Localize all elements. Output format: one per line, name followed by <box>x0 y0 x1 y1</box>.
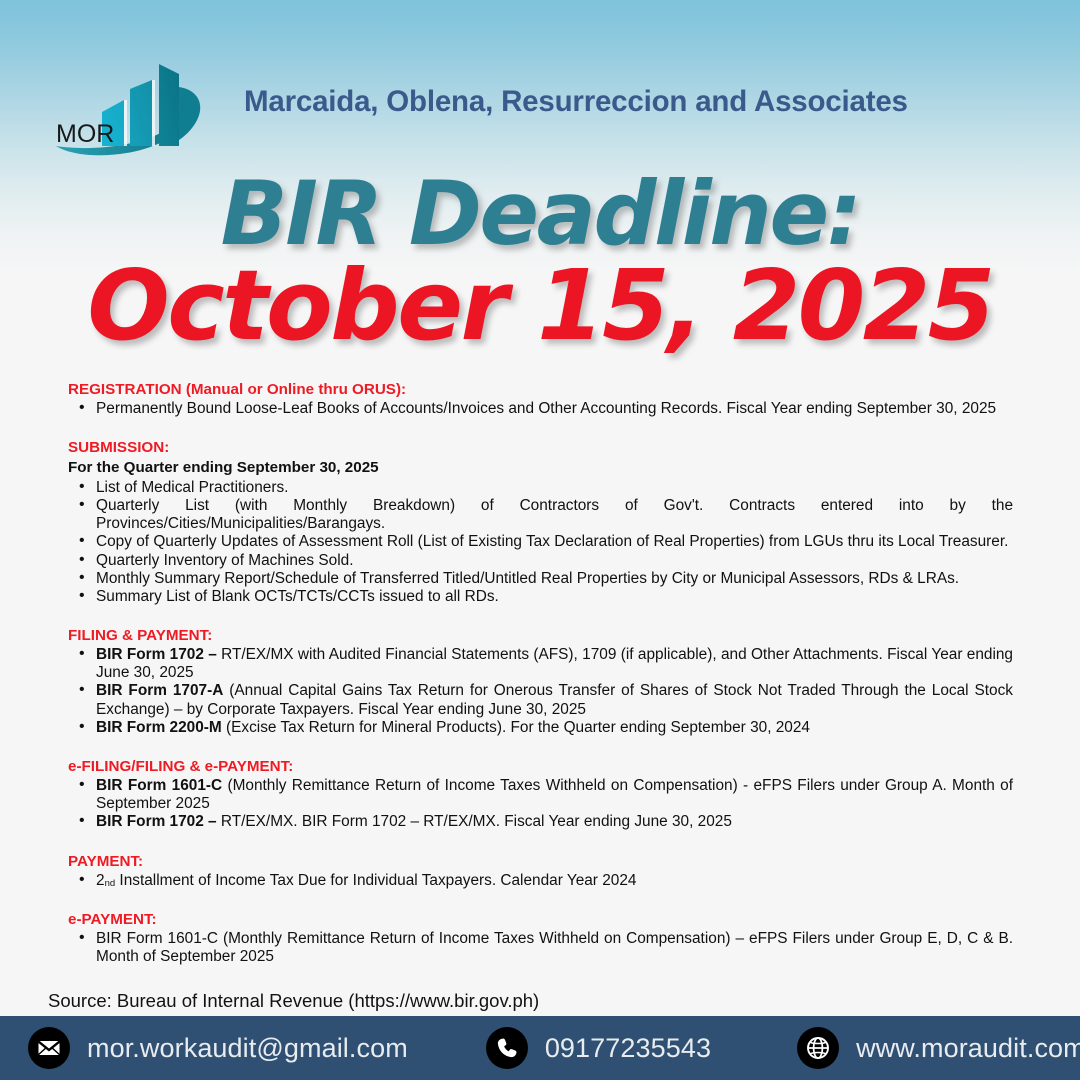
list-item: BIR Form 1601-C (Monthly Remittance Retu… <box>68 777 1013 813</box>
list-item-label: BIR Form 1702 – <box>96 813 217 830</box>
deadline-sections: REGISTRATION (Manual or Online thru ORUS… <box>68 380 1013 1012</box>
company-name: Marcaida, Oblena, Resurreccion and Assoc… <box>244 85 908 119</box>
list-item: Quarterly List (with Monthly Breakdown) … <box>68 497 1013 533</box>
list-item: Summary List of Blank OCTs/TCTs/CCTs iss… <box>68 588 1013 606</box>
contact-phone-text: 09177235543 <box>545 1033 711 1064</box>
section-heading: SUBMISSION: <box>68 438 1013 457</box>
section-gap <box>68 418 1013 438</box>
section-heading: PAYMENT: <box>68 852 1013 871</box>
logo-wordmark: MOR <box>56 120 114 148</box>
contact-email-text: mor.workaudit@gmail.com <box>87 1033 408 1064</box>
list-item-text: RT/EX/MX. BIR Form 1702 – RT/EX/MX. Fisc… <box>217 813 732 830</box>
section-heading: REGISTRATION (Manual or Online thru ORUS… <box>68 380 1013 399</box>
list-item-text: (Monthly Remittance Return of Income Tax… <box>96 777 1013 812</box>
list-item: List of Medical Practitioners. <box>68 479 1013 497</box>
contact-phone[interactable]: 09177235543 <box>486 1027 711 1069</box>
section-bullet-list: 2nd Installment of Income Tax Due for In… <box>68 872 1013 890</box>
list-item-label: BIR Form 1707-A <box>96 682 223 699</box>
contact-website-text: www.moraudit.com <box>856 1033 1080 1064</box>
list-item: Permanently Bound Loose-Leaf Books of Ac… <box>68 400 1013 418</box>
ordinal-number: 2 <box>96 872 105 889</box>
list-item: Copy of Quarterly Updates of Assessment … <box>68 533 1013 551</box>
section-gap <box>68 606 1013 626</box>
title-line-2: October 15, 2025 <box>0 260 1080 352</box>
contact-website[interactable]: www.moraudit.com <box>797 1027 1080 1069</box>
contact-email[interactable]: mor.workaudit@gmail.com <box>28 1027 408 1069</box>
logo-bar-3 <box>159 64 179 146</box>
list-item-text: BIR Form 1601-C (Monthly Remittance Retu… <box>96 930 1013 965</box>
section-subheading: For the Quarter ending September 30, 202… <box>68 458 1013 478</box>
list-item: BIR Form 1601-C (Monthly Remittance Retu… <box>68 930 1013 966</box>
section-bullet-list: BIR Form 1601-C (Monthly Remittance Retu… <box>68 930 1013 966</box>
list-item-text: Quarterly Inventory of Machines Sold. <box>96 552 354 569</box>
logo-bar-2 <box>130 80 152 146</box>
title-line-1: BIR Deadline: <box>0 172 1080 256</box>
building-growth-logo-icon: MOR <box>42 42 212 162</box>
ordinal-suffix: nd <box>105 878 116 889</box>
globe-icon <box>797 1027 839 1069</box>
list-item-text: List of Medical Practitioners. <box>96 479 288 496</box>
list-item: BIR Form 1702 – RT/EX/MX with Audited Fi… <box>68 646 1013 682</box>
section-bullet-list: BIR Form 1702 – RT/EX/MX with Audited Fi… <box>68 646 1013 737</box>
list-item-text: Installment of Income Tax Due for Indivi… <box>115 872 636 889</box>
section-heading: e-PAYMENT: <box>68 910 1013 929</box>
list-item-text: Quarterly List (with Monthly Breakdown) … <box>96 497 1013 532</box>
list-item-text: (Annual Capital Gains Tax Return for One… <box>96 682 1013 717</box>
list-item: BIR Form 1707-A (Annual Capital Gains Ta… <box>68 682 1013 718</box>
source-note: Source: Bureau of Internal Revenue (http… <box>48 990 1013 1012</box>
title-block: BIR Deadline: October 15, 2025 <box>0 172 1080 352</box>
section-bullet-list: List of Medical Practitioners.Quarterly … <box>68 479 1013 606</box>
list-item: BIR Form 2200-M (Excise Tax Return for M… <box>68 719 1013 737</box>
list-item: 2nd Installment of Income Tax Due for In… <box>68 872 1013 890</box>
poster-canvas: MOR Marcaida, Oblena, Resurreccion and A… <box>0 0 1080 1080</box>
footer-contact-bar: mor.workaudit@gmail.com 09177235543 <box>0 1016 1080 1080</box>
mor-logo: MOR <box>42 42 212 162</box>
logo-bar-3-curve <box>179 87 200 140</box>
list-item-label: BIR Form 2200-M <box>96 719 222 736</box>
list-item-text: Copy of Quarterly Updates of Assessment … <box>96 533 1008 550</box>
list-item-text: Monthly Summary Report/Schedule of Trans… <box>96 570 959 587</box>
list-item: BIR Form 1702 – RT/EX/MX. BIR Form 1702 … <box>68 813 1013 831</box>
section-gap <box>68 737 1013 757</box>
list-item-label: BIR Form 1601-C <box>96 777 222 794</box>
envelope-icon <box>28 1027 70 1069</box>
list-item-label: BIR Form 1702 – <box>96 646 217 663</box>
list-item-text: Summary List of Blank OCTs/TCTs/CCTs iss… <box>96 588 499 605</box>
section-heading: FILING & PAYMENT: <box>68 626 1013 645</box>
phone-icon <box>486 1027 528 1069</box>
section-gap <box>68 832 1013 852</box>
section-bullet-list: Permanently Bound Loose-Leaf Books of Ac… <box>68 400 1013 418</box>
list-item: Monthly Summary Report/Schedule of Trans… <box>68 570 1013 588</box>
header: MOR Marcaida, Oblena, Resurreccion and A… <box>0 42 1080 162</box>
list-item: Quarterly Inventory of Machines Sold. <box>68 552 1013 570</box>
section-heading: e-FILING/FILING & e-PAYMENT: <box>68 757 1013 776</box>
list-item-text: Permanently Bound Loose-Leaf Books of Ac… <box>96 400 996 417</box>
section-bullet-list: BIR Form 1601-C (Monthly Remittance Retu… <box>68 777 1013 832</box>
list-item-text: RT/EX/MX with Audited Financial Statemen… <box>96 646 1013 681</box>
list-item-text: (Excise Tax Return for Mineral Products)… <box>222 719 810 736</box>
section-gap <box>68 890 1013 910</box>
